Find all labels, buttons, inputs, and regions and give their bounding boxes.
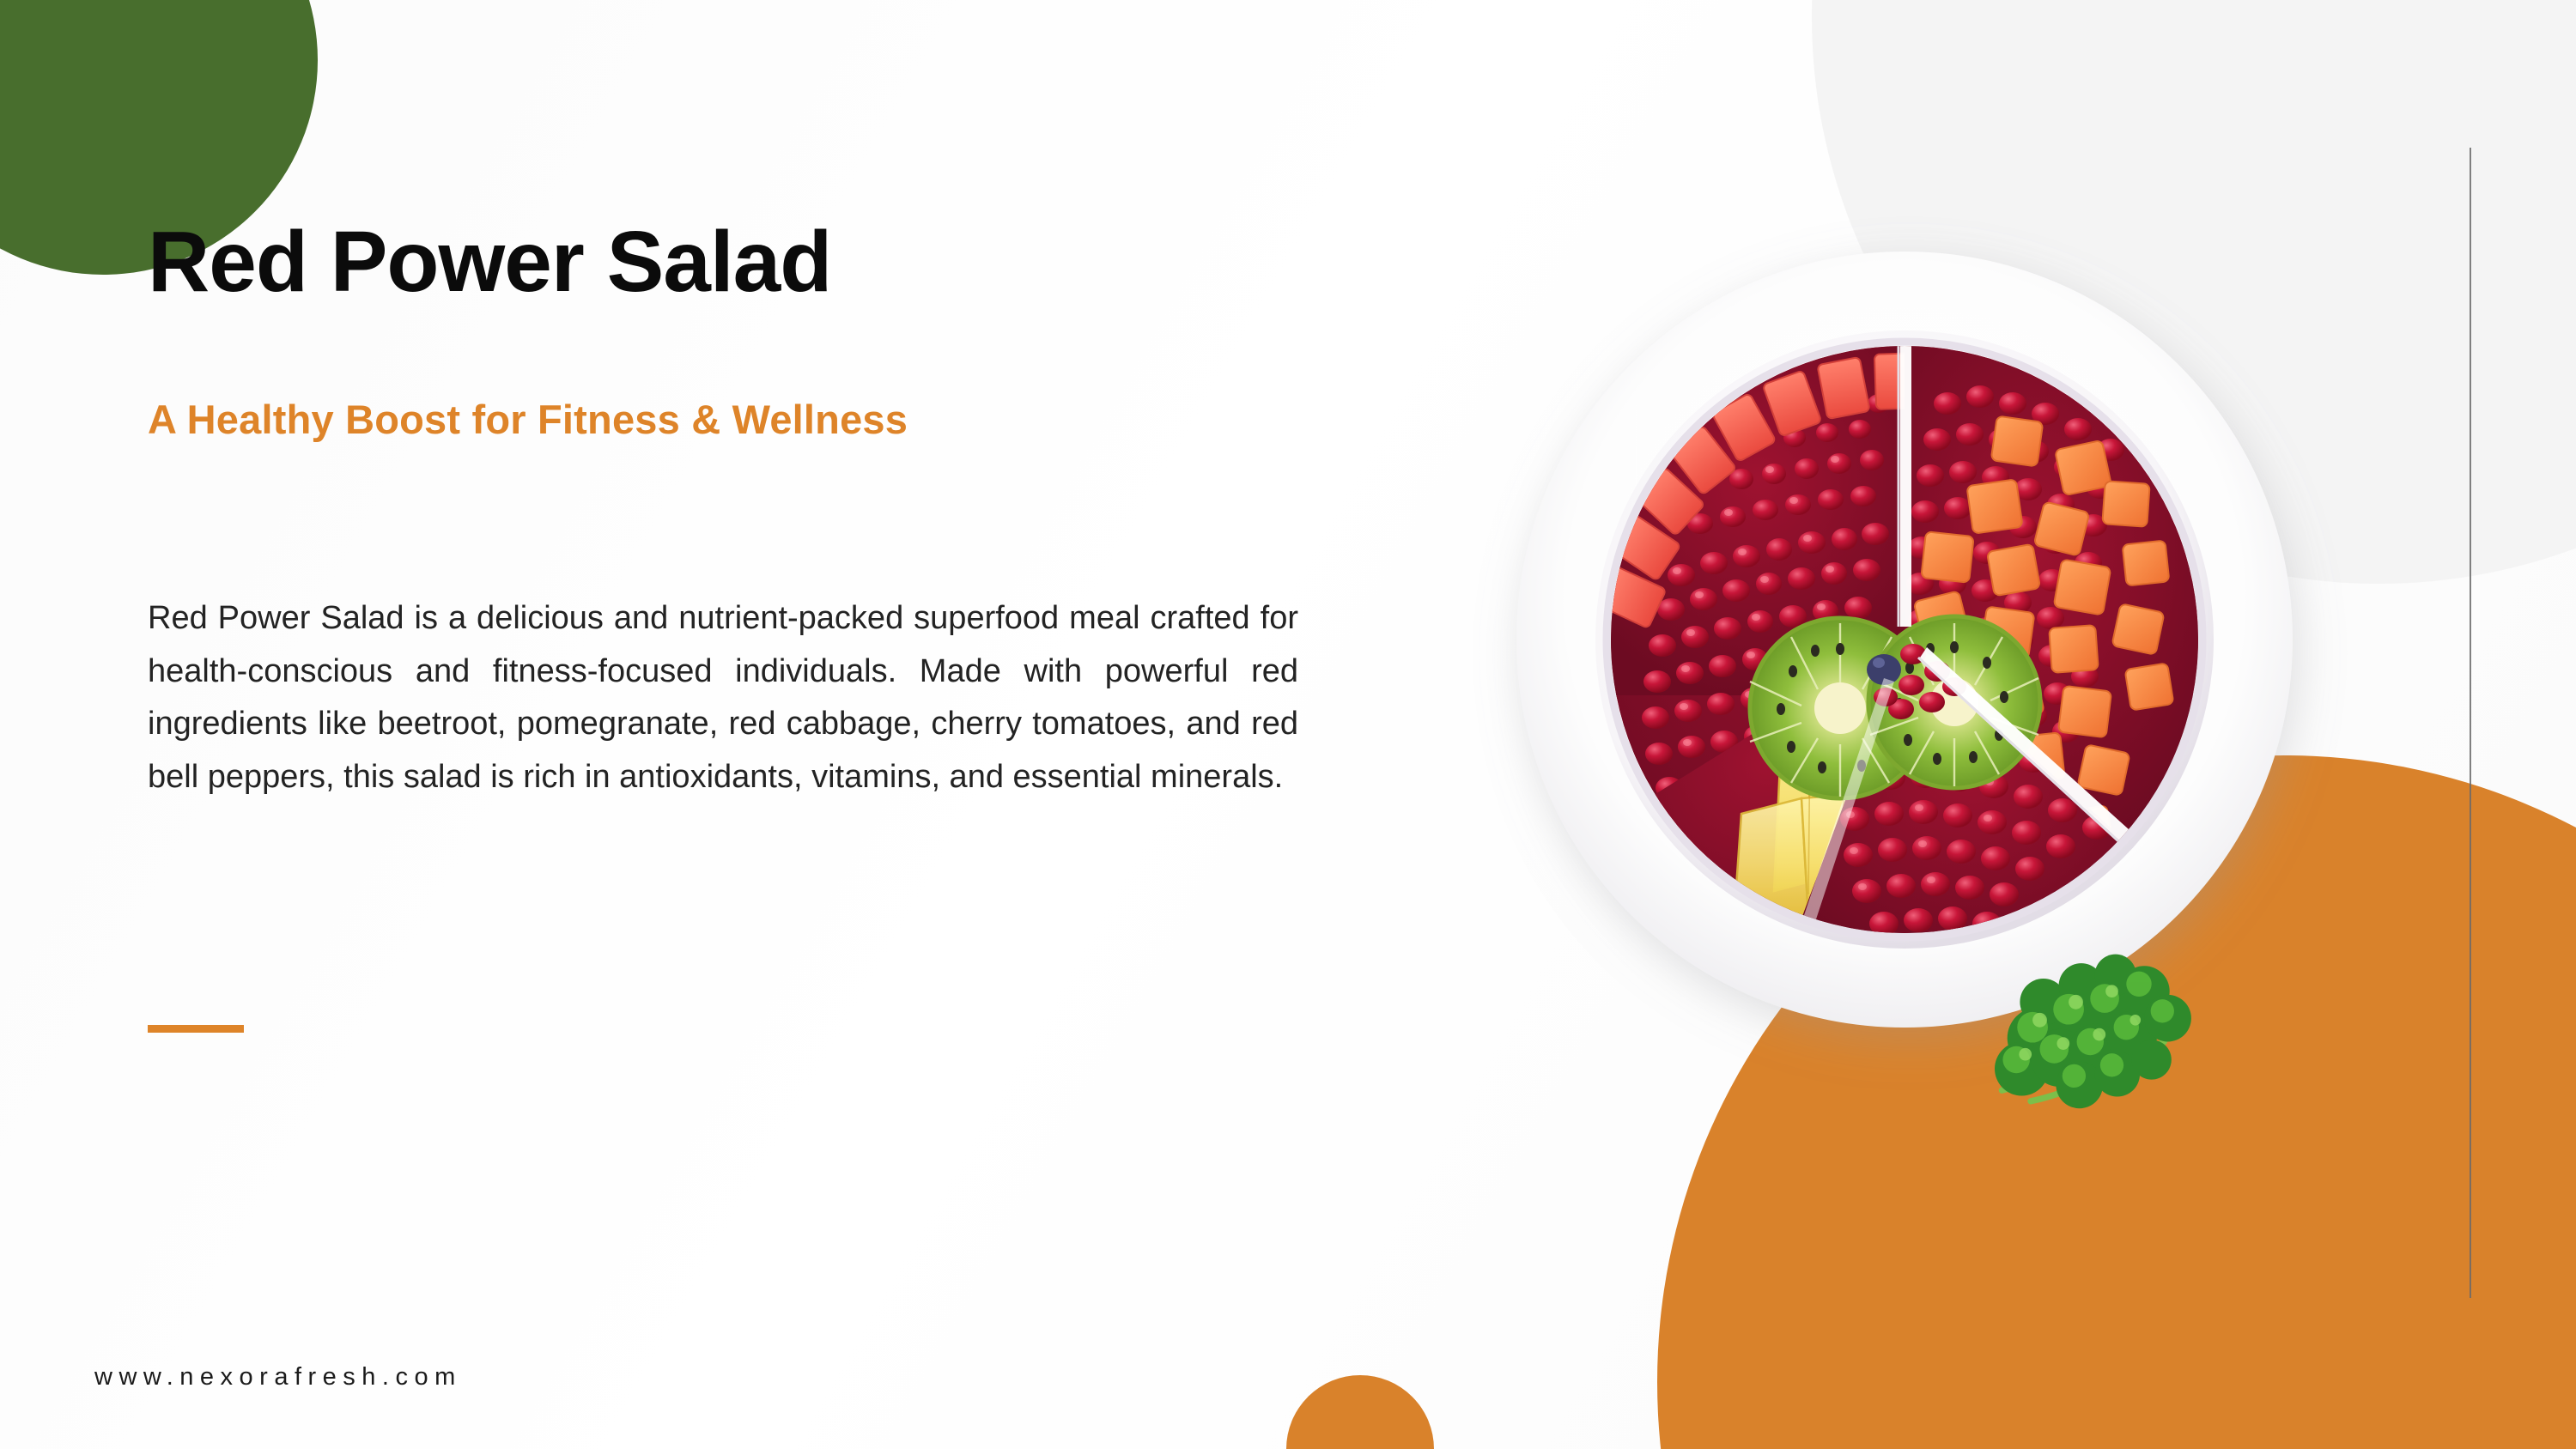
body-paragraph: Red Power Salad is a delicious and nutri… [148,592,1298,803]
accent-divider [148,1025,244,1033]
decorative-vertical-line [2470,148,2471,1298]
fruit-bowl-image [1398,146,2411,1159]
text-column: Red Power Salad A Healthy Boost for Fitn… [148,0,1350,1449]
poster-canvas: Red Power Salad A Healthy Boost for Fitn… [0,0,2576,1449]
kiwi-centerpiece [1750,616,2040,798]
page-subtitle: A Healthy Boost for Fitness & Wellness [148,397,908,442]
page-title: Red Power Salad [148,219,831,305]
website-url: www.nexorafresh.com [94,1363,462,1391]
fruit-bowl-illustration [1398,146,2411,1159]
